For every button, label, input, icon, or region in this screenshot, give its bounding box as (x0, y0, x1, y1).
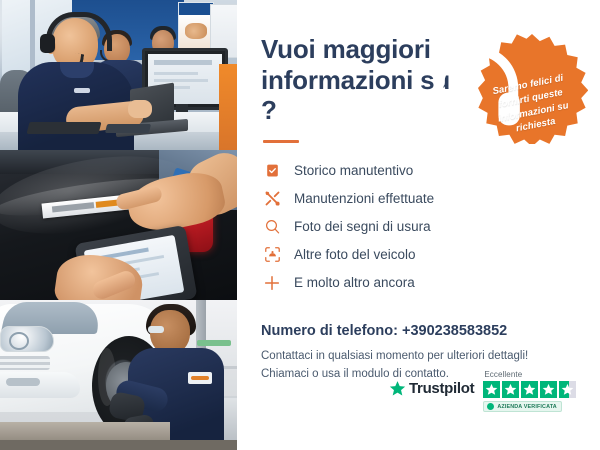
list-item-label: Storico manutentivo (294, 163, 413, 178)
garage-shelf-decor (197, 340, 231, 346)
list-item: E molto altro ancora (261, 269, 578, 296)
verified-check-icon (487, 403, 494, 410)
trustpilot-rating-block: Eccellente (483, 370, 576, 412)
plus-icon-glyph (263, 274, 281, 292)
headlight-ring-decor (9, 332, 29, 350)
list-item: Storico manutentivo (261, 157, 578, 184)
tools-icon (261, 188, 283, 210)
agent-one-collar-decor (60, 62, 94, 78)
car-inspection-photo (0, 150, 237, 300)
phone-number[interactable]: Numero di telefono: +390238583852 (261, 323, 578, 339)
content-panel: Vuoi maggiori informazioni su ? Saremo f… (237, 0, 600, 450)
list-item-label: Manutenzioni effettuate (294, 191, 434, 206)
monitor-row-decor (154, 79, 208, 82)
wall-poster-decor (178, 2, 214, 50)
checklist-icon (261, 160, 283, 182)
star-icon (504, 383, 517, 396)
photo-frame-icon-glyph (264, 246, 281, 263)
contact-subtext-line-1: Contattaci in qualsiasi momento per ulte… (261, 348, 578, 366)
monitor-row-decor (154, 72, 198, 75)
list-item-label: E molto altro ancora (294, 275, 415, 290)
star-filled (540, 381, 557, 398)
lift-base-decor (0, 440, 237, 450)
uniform-logo-decor (74, 88, 90, 93)
tools-icon-glyph (263, 189, 282, 208)
grille-decor (0, 356, 50, 370)
mechanic-glasses-decor (148, 326, 164, 333)
trustpilot-stars (483, 381, 576, 398)
keyboard-decor (27, 122, 102, 134)
trustpilot-rating-label: Eccellente (484, 370, 522, 379)
list-item-label: Altre foto del veicolo (294, 247, 416, 262)
trustpilot-star-icon (389, 380, 406, 397)
keyboard-decor (105, 124, 151, 133)
list-item-label: Foto dei segni di usura (294, 219, 431, 234)
fog-lamp-decor (6, 378, 40, 386)
agent-one-hand-decor (128, 100, 152, 118)
star-filled (483, 381, 500, 398)
magnifier-icon-glyph (264, 218, 281, 235)
star-filled (521, 381, 538, 398)
title-divider (263, 140, 299, 143)
star-icon (561, 383, 574, 396)
verified-business-badge: AZIENDA VERIFICATA (483, 401, 562, 412)
monitor-bar-decor (154, 60, 212, 65)
strip-marking-decor (52, 202, 94, 212)
features-list: Storico manutentivo Manutenzioni effettu… (261, 157, 578, 296)
photo-column (0, 0, 237, 450)
star-partial (559, 381, 576, 398)
trustpilot-logo: Trustpilot (389, 370, 474, 397)
call-center-agents-photo (0, 0, 237, 150)
trustpilot-widget[interactable]: Trustpilot Eccellente (389, 370, 576, 412)
headlight-decor (0, 326, 54, 352)
star-icon (542, 383, 555, 396)
checklist-icon-glyph (265, 163, 280, 178)
list-item: Manutenzioni effettuate (261, 185, 578, 212)
orange-panel-decor (219, 64, 237, 150)
callout-badge: Saremo felici di fornirti queste informa… (476, 32, 588, 144)
mechanic-logo-patch-decor (188, 372, 212, 384)
headset-band-decor (46, 12, 112, 51)
photo-frame-icon (261, 244, 283, 266)
plus-icon (261, 272, 283, 294)
magnifier-icon (261, 216, 283, 238)
verified-label: AZIENDA VERIFICATA (497, 404, 557, 410)
star-filled (502, 381, 519, 398)
list-item: Altre foto del veicolo (261, 241, 578, 268)
star-icon (523, 383, 536, 396)
advertisement-banner: Vuoi maggiori informazioni su ? Saremo f… (0, 0, 600, 450)
star-icon (485, 383, 498, 396)
trustpilot-brand-label: Trustpilot (409, 380, 474, 397)
list-item: Foto dei segni di usura (261, 213, 578, 240)
mechanic-wheel-photo (0, 300, 237, 450)
